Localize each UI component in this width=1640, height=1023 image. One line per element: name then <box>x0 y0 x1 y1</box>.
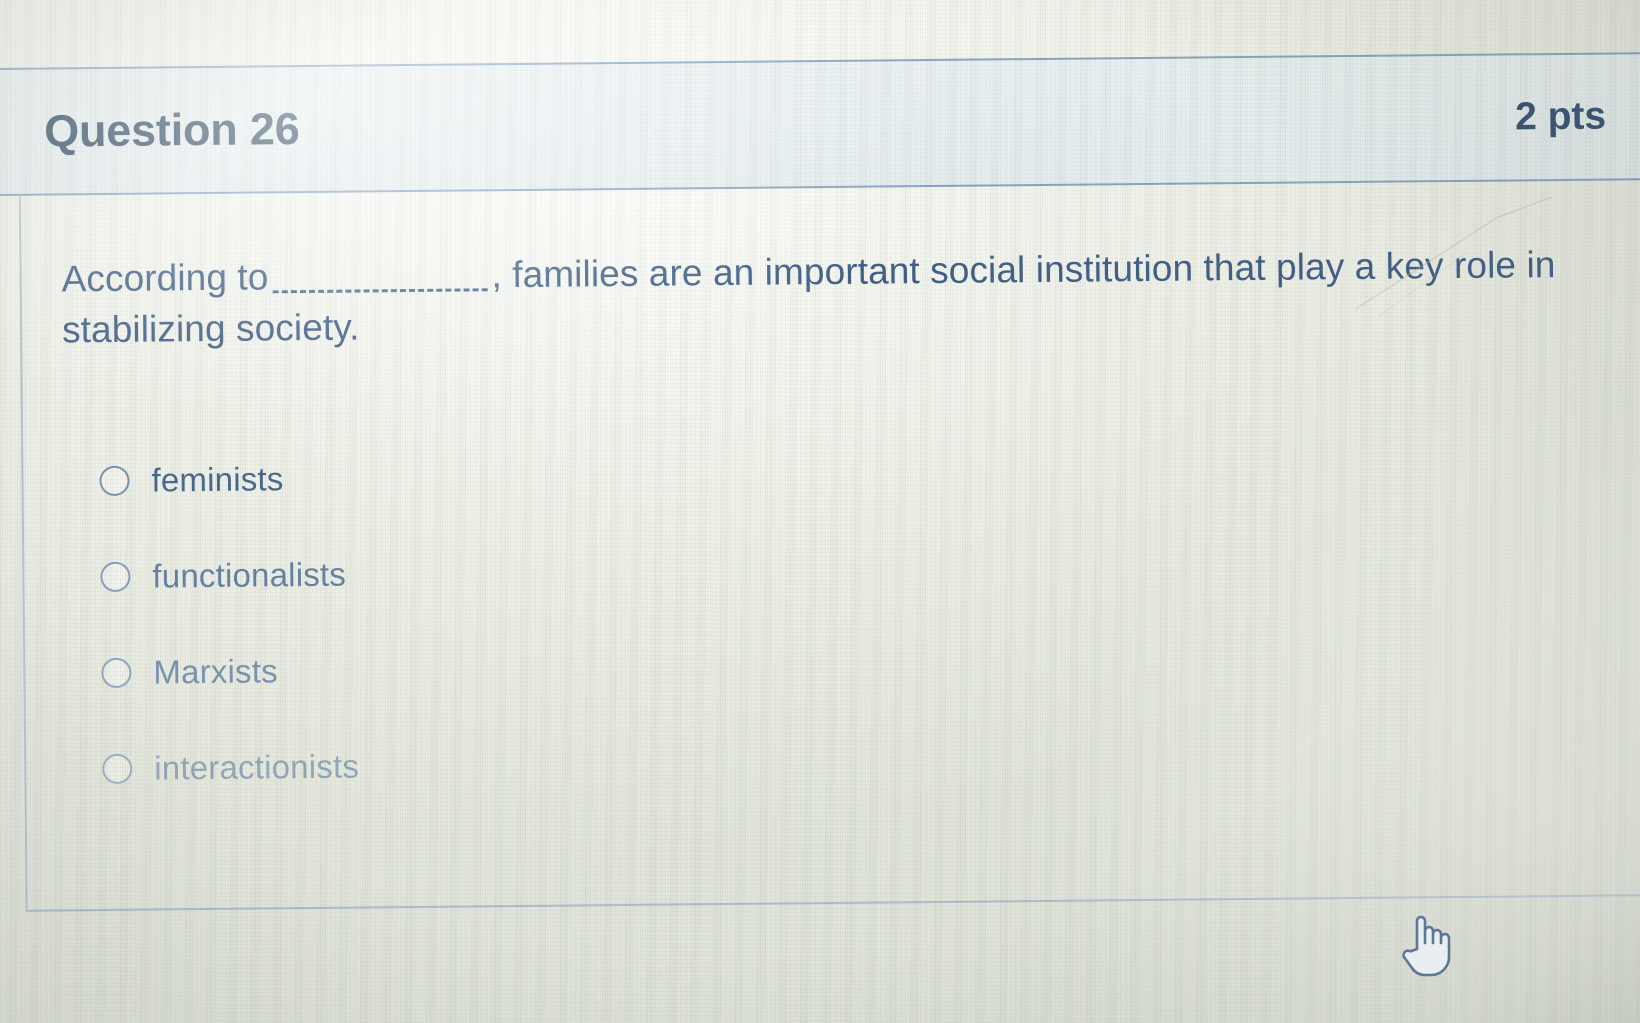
answer-option-label: functionalists <box>152 556 346 596</box>
radio-button-icon[interactable] <box>101 658 131 688</box>
answer-option-interactionists[interactable]: interactionists <box>102 706 1640 817</box>
radio-button-icon[interactable] <box>102 754 132 784</box>
question-header: Question 26 2 pts <box>0 52 1640 197</box>
answer-option-label: interactionists <box>154 748 359 788</box>
question-prompt-tail: , families are an important social insti… <box>62 244 1556 350</box>
answer-option-functionalists[interactable]: functionalists <box>100 514 1640 625</box>
answer-option-label: Marxists <box>153 652 278 691</box>
question-body: According to, families are an important … <box>19 180 1640 912</box>
question-title: Question 26 <box>44 103 300 157</box>
question-prompt-lead: According to <box>61 256 268 299</box>
answer-option-marxists[interactable]: Marxists <box>101 610 1640 721</box>
photographed-screen: Question 26 2 pts According to, families… <box>0 0 1640 1023</box>
answer-option-feminists[interactable]: feminists <box>99 418 1640 529</box>
question-prompt: According to, families are an important … <box>61 239 1562 355</box>
answer-blank <box>272 262 487 293</box>
answer-options-list: feminists functionalists Marxists intera… <box>63 418 1640 817</box>
question-points-badge: 2 pts <box>1515 94 1636 139</box>
screen-surface: Question 26 2 pts According to, families… <box>0 0 1640 1023</box>
answer-option-label: feminists <box>151 460 283 499</box>
radio-button-icon[interactable] <box>100 562 130 592</box>
radio-button-icon[interactable] <box>99 466 129 496</box>
